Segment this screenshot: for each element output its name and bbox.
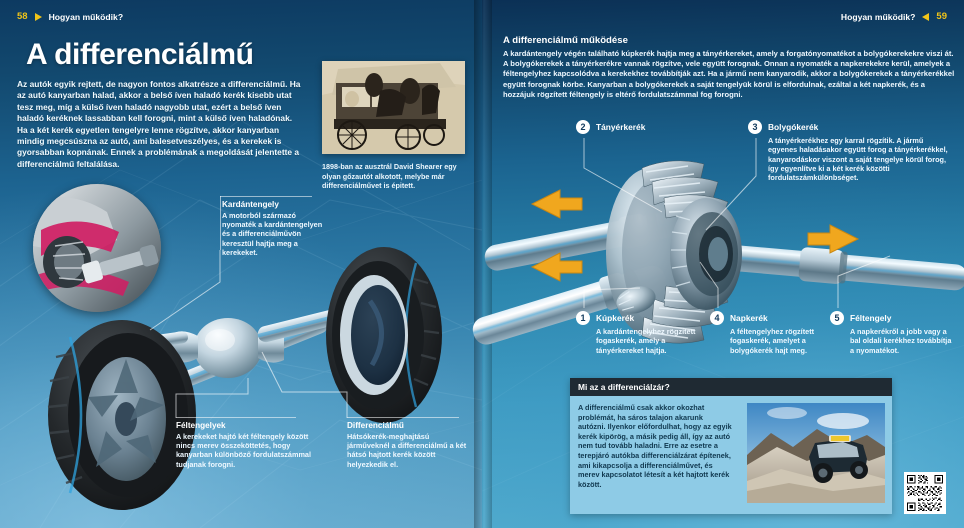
numbered-callout-3: 3 Bolygókerék A tányérkerékhez egy karra… — [748, 120, 954, 182]
callout-title: Napkerék — [730, 313, 768, 323]
callout-badge-2: 2 — [576, 120, 590, 134]
historic-photo-caption: 1898-ban az ausztrál David Shearer egy o… — [322, 162, 472, 191]
callout-body: Hátsókerék-meghajtású járműveknél a diff… — [347, 432, 469, 470]
numbered-callout-5: 5 Féltengely A napkerékről a jobb vagy a… — [830, 311, 954, 355]
callout-body: A kerekeket hajtó két féltengely között … — [176, 432, 316, 470]
running-head-right-label: Hogyan működik? — [841, 12, 916, 22]
info-box-body: A differenciálmű csak akkor okozhat prob… — [570, 396, 740, 489]
info-box-heading: Mi az a differenciálzár? — [570, 378, 892, 396]
callout-differencialmu: Differenciálmű Hátsókerék-meghajtású jár… — [347, 421, 469, 469]
section-title: A differenciálmű működése — [503, 35, 949, 46]
callout-feltengelyek: Féltengelyek A kerekeket hajtó két félte… — [176, 421, 316, 469]
cutaway-differential-photo — [33, 184, 161, 312]
info-box-differential-lock: Mi az a differenciálzár? A differenciálm… — [570, 378, 892, 514]
numbered-callout-1: 1 Kúpkerék A kardántengelyhez rögzített … — [576, 311, 702, 355]
callout-badge-3: 3 — [748, 120, 762, 134]
page-title: A differenciálmű — [26, 38, 254, 72]
callout-title: Tányérkerék — [596, 122, 645, 132]
triangle-left-icon — [922, 13, 929, 21]
offroad-photo-art — [747, 403, 885, 503]
section-body: A kardántengely végén található kúpkerék… — [503, 49, 955, 100]
callout-rule-kardantengely — [220, 196, 312, 197]
callout-badge-1: 1 — [576, 311, 590, 325]
callout-title: Differenciálmű — [347, 421, 469, 430]
callout-title: Kúpkerék — [596, 313, 634, 323]
qr-code[interactable] — [904, 472, 946, 514]
callout-badge-4: 4 — [710, 311, 724, 325]
numbered-callout-4: 4 Napkerék A féltengelyhez rögzített fog… — [710, 311, 828, 355]
callout-rule-feltengelyek — [176, 417, 296, 418]
callout-kardantengely: Kardántengely A motorból származó nyomat… — [222, 200, 330, 258]
callout-title: Kardántengely — [222, 200, 330, 209]
folio-right: 59 — [936, 11, 947, 22]
running-head-left-label: Hogyan működik? — [49, 12, 124, 22]
callout-title: Féltengelyek — [176, 421, 316, 430]
callout-body: A tányérkerékhez egy karral rögzítik. A … — [768, 136, 954, 182]
callout-badge-5: 5 — [830, 311, 844, 325]
numbered-callout-2: 2 Tányérkerék — [576, 120, 686, 134]
callout-rule-differencialmu — [347, 417, 459, 418]
offroad-jeep-on-rocks-photo — [747, 403, 885, 503]
qr-code-art — [907, 475, 943, 511]
callout-title: Féltengely — [850, 313, 891, 323]
folio-left: 58 — [17, 11, 28, 22]
triangle-right-icon — [35, 13, 42, 21]
magazine-spread: 58 Hogyan működik? Hogyan működik? 59 A … — [0, 0, 964, 528]
callout-body: A motorból származó nyomaték a kardánten… — [222, 211, 330, 258]
historic-photo-art — [322, 61, 465, 154]
callout-body: A kardántengelyhez rögzített fogaskerék,… — [596, 327, 702, 355]
callout-bracket-kardantengely — [220, 196, 221, 250]
historic-steam-car-photo — [322, 61, 465, 154]
callout-body: A féltengelyhez rögzített fogaskerék, am… — [730, 327, 828, 355]
lead-paragraph: Az autók egyik rejtett, de nagyon fontos… — [17, 79, 303, 170]
callout-title: Bolygókerék — [768, 122, 818, 132]
running-head-left: 58 Hogyan működik? — [17, 11, 123, 22]
cutaway-photo-art — [33, 184, 161, 312]
callout-body: A napkerékről a jobb vagy a bal oldali k… — [850, 327, 954, 355]
running-head-right: Hogyan működik? 59 — [841, 11, 947, 22]
